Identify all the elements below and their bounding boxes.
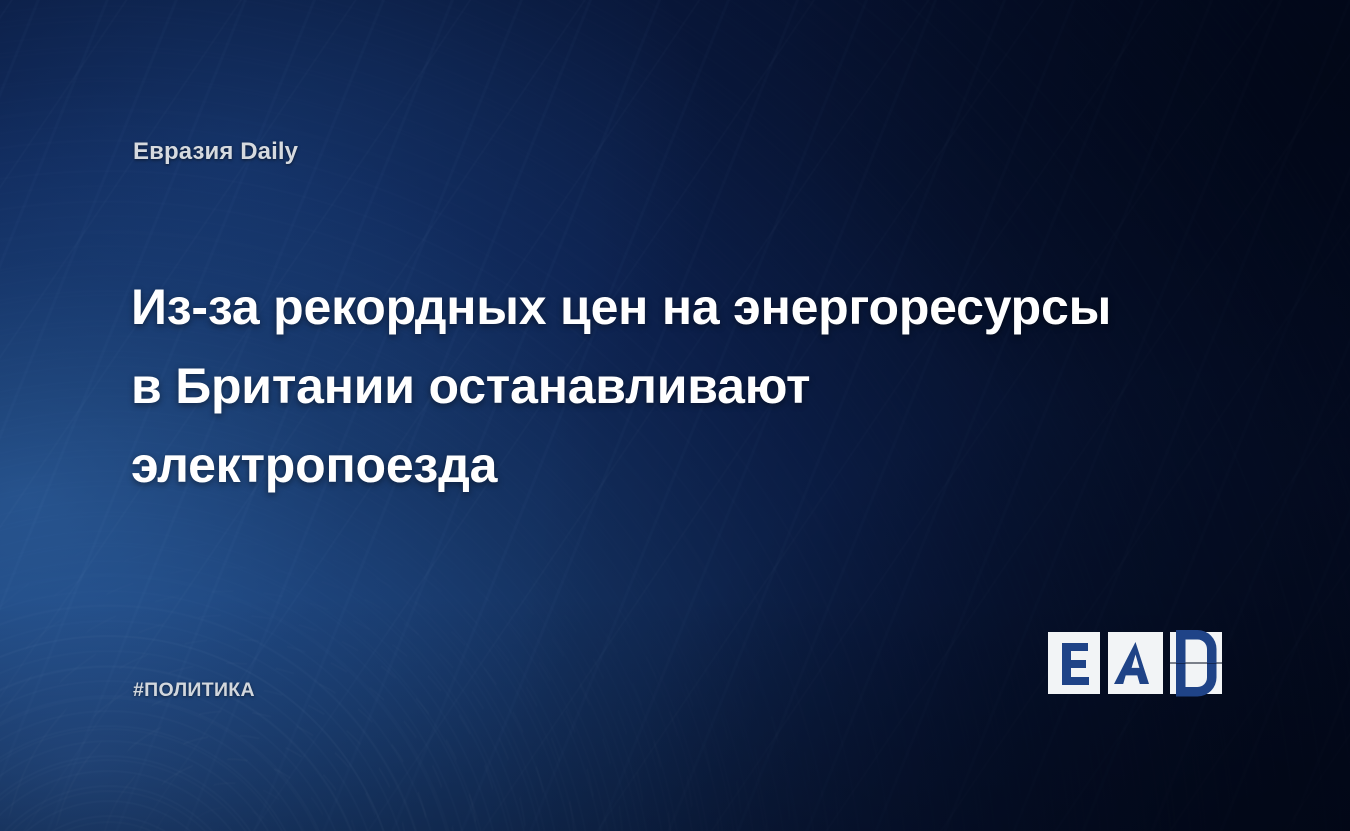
headline-line-3: электропоезда xyxy=(131,426,1221,505)
headline-line-1: Из-за рекордных цен на энергоресурсы xyxy=(131,268,1221,347)
news-card: Евразия Daily Из-за рекордных цен на эне… xyxy=(0,0,1350,831)
card-content: Евразия Daily Из-за рекордных цен на эне… xyxy=(0,0,1350,831)
page-title: Из-за рекордных цен на энергоресурсы в Б… xyxy=(131,268,1221,505)
eadaily-logo[interactable] xyxy=(1045,626,1230,702)
category-tag[interactable]: #ПОЛИТИКА xyxy=(133,679,255,702)
brand-name: Евразия Daily xyxy=(133,138,298,166)
headline-line-2: в Британии останавливают xyxy=(131,347,1221,426)
eadaily-logo-icon xyxy=(1045,626,1230,702)
